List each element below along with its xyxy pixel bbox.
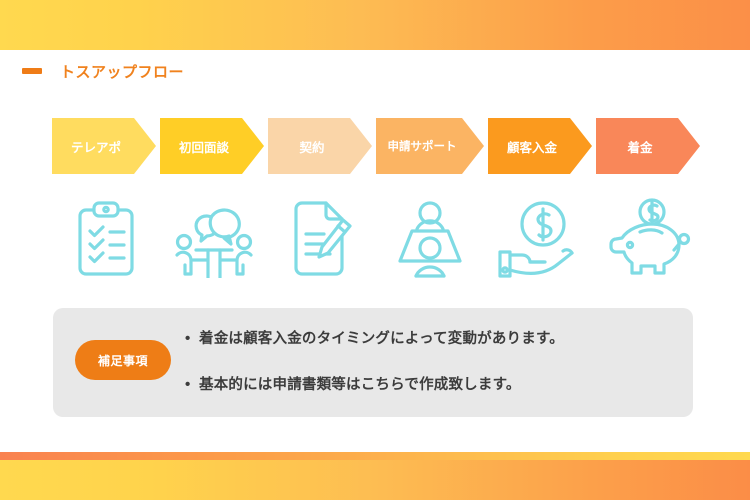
supplementary-note-box: 補足事項 • 着金は顧客入金のタイミングによって変動があります。 • 基本的には… <box>53 308 693 417</box>
note-list: • 着金は顧客入金のタイミングによって変動があります。 • 基本的には申請書類等… <box>185 308 675 417</box>
flow-steps: テレアポ 初回面談 契約 申請サポート 顧客入金 着金 <box>52 118 700 174</box>
flow-step-5-label: 顧客入金 <box>507 137 557 156</box>
meeting-people-icon <box>160 196 268 280</box>
flow-step-2-label: 初回面談 <box>179 137 229 156</box>
bottom-gradient-band <box>0 460 750 500</box>
top-gradient-band <box>0 0 750 50</box>
piggy-bank-icon <box>592 196 700 280</box>
flow-icons <box>52 196 700 280</box>
flow-step-1-label: テレアポ <box>71 137 121 156</box>
flow-step-5[interactable]: 顧客入金 <box>488 118 592 174</box>
flow-step-6-label: 着金 <box>627 137 652 156</box>
flow-step-4[interactable]: 申請サポート <box>376 118 484 174</box>
flow-step-2[interactable]: 初回面談 <box>160 118 264 174</box>
status-badge-label: 補足事項 <box>98 352 148 369</box>
page-title-label: トスアップフロー <box>60 61 184 82</box>
list-item-text: 着金は顧客入金のタイミングによって変動があります。 <box>199 331 564 348</box>
bottom-thin-gradient-band <box>0 452 750 460</box>
clipboard-checklist-icon <box>52 196 160 280</box>
flow-step-3-label: 契約 <box>299 137 324 156</box>
page-title: トスアップフロー <box>22 60 184 82</box>
list-item: • 着金は顧客入金のタイミングによって変動があります。 <box>185 331 675 348</box>
title-dash-icon <box>22 68 42 74</box>
list-item: • 基本的には申請書類等はこちらで作成致します。 <box>185 377 675 394</box>
bullet-icon: • <box>185 331 199 348</box>
document-pen-icon <box>268 196 376 280</box>
list-item-text: 基本的には申請書類等はこちらで作成致します。 <box>199 377 521 394</box>
flow-step-3[interactable]: 契約 <box>268 118 372 174</box>
flow-step-4-label: 申請サポート <box>388 138 457 154</box>
status-badge: 補足事項 <box>75 340 171 380</box>
flow-step-6[interactable]: 着金 <box>596 118 700 174</box>
flow-step-1[interactable]: テレアポ <box>52 118 156 174</box>
bullet-icon: • <box>185 377 199 394</box>
support-desk-person-icon <box>376 196 484 280</box>
hand-holding-coin-icon <box>484 196 592 280</box>
